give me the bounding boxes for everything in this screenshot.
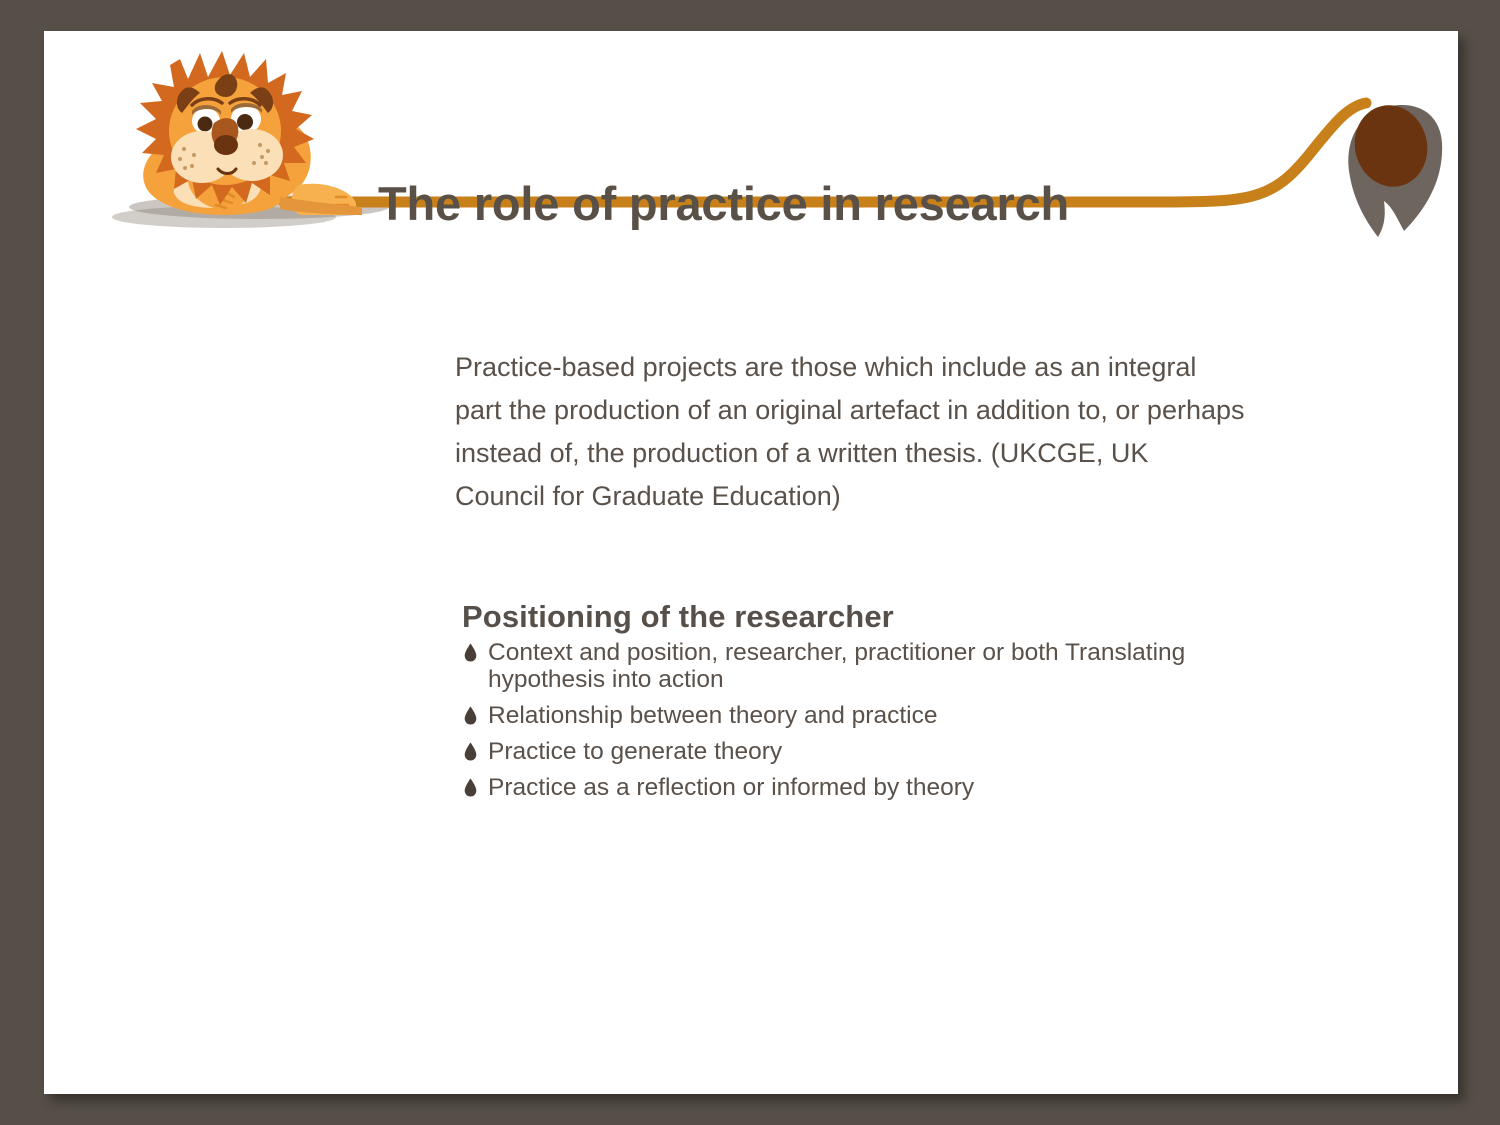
list-item: Relationship between theory and practice (464, 702, 1244, 729)
list-item: Practice to generate theory (464, 738, 1244, 765)
slide-frame: The role of practice in research Practic… (0, 0, 1500, 1125)
page-title: The role of practice in research (378, 179, 1278, 228)
bullet-list: Context and position, researcher, practi… (464, 639, 1244, 810)
list-item: Context and position, researcher, practi… (464, 639, 1244, 693)
section-heading: Positioning of the researcher (462, 599, 894, 635)
list-item-label: Context and position, researcher, practi… (488, 639, 1185, 693)
list-item: Practice as a reflection or informed by … (464, 774, 1244, 801)
droplet-bullet-icon (464, 778, 477, 797)
lion-mascot (84, 45, 364, 235)
droplet-bullet-icon (464, 742, 477, 761)
droplet-bullet-icon (464, 706, 477, 725)
list-item-label: Relationship between theory and practice (488, 702, 937, 729)
list-item-label: Practice as a reflection or informed by … (488, 774, 974, 801)
slide-canvas: The role of practice in research Practic… (44, 31, 1458, 1094)
slide-header: The role of practice in research (44, 31, 1458, 246)
intro-paragraph: Practice-based projects are those which … (455, 346, 1245, 518)
lion-pupil-left (198, 117, 213, 132)
list-item-label: Practice to generate theory (488, 738, 782, 765)
droplet-bullet-icon (464, 643, 477, 662)
lion-snout (214, 135, 238, 155)
lion-pupil-right (237, 114, 253, 130)
